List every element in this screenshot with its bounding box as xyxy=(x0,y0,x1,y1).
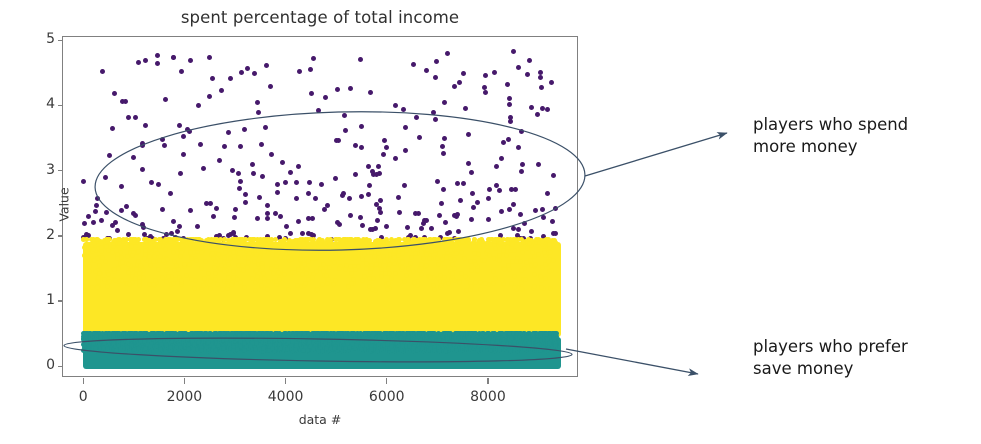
scatter-point xyxy=(533,262,538,267)
scatter-point xyxy=(405,225,410,230)
scatter-point xyxy=(188,208,193,213)
scatter-point xyxy=(124,204,129,209)
scatter-point xyxy=(284,224,289,229)
scatter-point xyxy=(237,186,242,191)
scatter-point xyxy=(136,249,141,254)
scatter-point xyxy=(491,281,496,286)
scatter-point xyxy=(342,113,347,118)
scatter-point xyxy=(301,348,306,353)
scatter-point xyxy=(400,260,405,265)
scatter-point xyxy=(195,224,200,229)
scatter-point xyxy=(553,332,558,337)
scatter-point xyxy=(440,334,445,339)
scatter-point xyxy=(105,239,110,244)
scatter-point xyxy=(230,168,235,173)
scatter-point xyxy=(286,340,291,345)
scatter-point xyxy=(237,333,242,338)
scatter-point xyxy=(283,180,288,185)
scatter-point xyxy=(543,276,548,281)
scatter-point xyxy=(456,229,461,234)
scatter-point xyxy=(403,125,408,130)
scatter-point xyxy=(112,91,117,96)
scatter-point xyxy=(534,237,539,242)
scatter-point xyxy=(475,268,480,273)
scatter-point xyxy=(293,347,298,352)
scatter-point xyxy=(171,281,176,286)
scatter-point xyxy=(295,283,300,288)
scatter-point xyxy=(494,164,499,169)
scatter-point xyxy=(327,338,332,343)
scatter-point xyxy=(416,211,421,216)
scatter-point xyxy=(120,99,125,104)
scatter-point xyxy=(413,251,418,256)
scatter-point xyxy=(384,145,389,150)
scatter-point xyxy=(441,187,446,192)
scatter-point xyxy=(437,213,442,218)
scatter-point xyxy=(460,344,465,349)
scatter-point xyxy=(93,209,98,214)
scatter-point xyxy=(497,258,502,263)
y-tick-mark xyxy=(58,300,64,301)
scatter-point xyxy=(316,238,321,243)
scatter-point xyxy=(273,211,278,216)
scatter-point xyxy=(540,239,545,244)
scatter-point xyxy=(469,170,474,175)
scatter-point xyxy=(226,130,231,135)
scatter-point xyxy=(548,250,553,255)
scatter-point xyxy=(265,211,270,216)
scatter-point xyxy=(400,251,405,256)
scatter-point xyxy=(325,203,330,208)
scatter-point xyxy=(316,108,321,113)
scatter-point xyxy=(333,176,338,181)
scatter-point xyxy=(530,250,535,255)
scatter-point xyxy=(277,334,282,339)
scatter-point xyxy=(171,55,176,60)
scatter-point xyxy=(426,331,431,336)
scatter-point xyxy=(210,76,215,81)
scatter-point xyxy=(485,248,490,253)
scatter-point xyxy=(308,67,313,72)
scatter-point xyxy=(275,190,280,195)
scatter-point xyxy=(232,215,237,220)
annotation-arrow-save xyxy=(566,349,698,374)
scatter-point xyxy=(296,164,301,169)
scatter-point xyxy=(457,80,462,85)
scatter-point xyxy=(448,237,453,242)
scatter-point xyxy=(450,271,455,276)
scatter-point xyxy=(113,220,118,225)
scatter-point xyxy=(221,241,226,246)
x-tick-label: 4000 xyxy=(251,390,321,404)
scatter-point xyxy=(259,142,264,147)
scatter-point xyxy=(419,272,424,277)
scatter-point xyxy=(553,231,558,236)
scatter-point xyxy=(527,241,532,246)
scatter-point xyxy=(442,100,447,105)
scatter-point xyxy=(160,207,165,212)
scatter-point xyxy=(140,222,145,227)
scatter-point xyxy=(307,180,312,185)
scatter-point xyxy=(546,259,551,264)
scatter-point xyxy=(222,255,227,260)
scatter-point xyxy=(233,207,238,212)
scatter-point xyxy=(277,342,282,347)
scatter-point xyxy=(336,138,341,143)
scatter-point xyxy=(382,335,387,340)
scatter-point xyxy=(506,137,511,142)
scatter-point xyxy=(294,196,299,201)
scatter-point xyxy=(142,256,147,261)
scatter-point xyxy=(238,179,243,184)
scatter-plot-area xyxy=(63,37,577,376)
scatter-point xyxy=(454,251,459,256)
scatter-point xyxy=(497,188,502,193)
scatter-point xyxy=(160,137,165,142)
scatter-point xyxy=(440,144,445,149)
scatter-point xyxy=(102,277,107,282)
scatter-point xyxy=(362,252,367,257)
scatter-point xyxy=(423,244,428,249)
scatter-point xyxy=(320,332,325,337)
scatter-point xyxy=(392,248,397,253)
scatter-point xyxy=(81,237,86,242)
scatter-point xyxy=(370,227,375,232)
scatter-point xyxy=(414,115,419,120)
scatter-point xyxy=(91,220,96,225)
scatter-point xyxy=(86,214,91,219)
scatter-point xyxy=(313,196,318,201)
scatter-point xyxy=(119,208,124,213)
scatter-point xyxy=(115,228,120,233)
scatter-point xyxy=(136,259,141,264)
scatter-point xyxy=(424,68,429,73)
scatter-point xyxy=(499,156,504,161)
scatter-point xyxy=(265,203,270,208)
scatter-point xyxy=(239,70,244,75)
scatter-point xyxy=(196,103,201,108)
scatter-point xyxy=(487,187,492,192)
scatter-point xyxy=(214,237,219,242)
y-tick-label: 3 xyxy=(29,163,55,177)
scatter-point xyxy=(393,271,398,276)
scatter-point xyxy=(525,72,530,77)
scatter-point xyxy=(206,340,211,345)
scatter-point xyxy=(501,248,506,253)
scatter-point xyxy=(188,332,193,337)
scatter-point xyxy=(318,249,323,254)
scatter-point xyxy=(424,263,429,268)
x-tick-mark xyxy=(386,378,387,384)
scatter-point xyxy=(315,287,320,292)
scatter-point xyxy=(518,341,523,346)
scatter-point xyxy=(392,255,397,260)
scatter-point xyxy=(95,285,100,290)
scatter-point xyxy=(461,181,466,186)
scatter-point xyxy=(442,136,447,141)
x-tick-mark xyxy=(184,378,185,384)
scatter-point xyxy=(211,214,216,219)
scatter-point xyxy=(446,281,451,286)
scatter-point xyxy=(102,341,107,346)
scatter-point xyxy=(242,127,247,132)
scatter-point xyxy=(553,206,558,211)
scatter-point xyxy=(402,237,407,242)
scatter-point xyxy=(99,249,104,254)
scatter-point xyxy=(311,347,316,352)
scatter-point xyxy=(187,129,192,134)
scatter-point xyxy=(391,333,396,338)
scatter-point xyxy=(436,237,441,242)
scatter-point xyxy=(179,69,184,74)
scatter-point xyxy=(305,348,310,353)
scatter-point xyxy=(188,58,193,63)
y-tick-label: 4 xyxy=(29,97,55,111)
scatter-point xyxy=(329,331,334,336)
scatter-point xyxy=(343,267,348,272)
scatter-point xyxy=(448,256,453,261)
scatter-point xyxy=(188,243,193,248)
scatter-point xyxy=(156,182,161,187)
annotation-arrow-spend xyxy=(585,133,727,176)
scatter-point xyxy=(450,347,455,352)
scatter-point xyxy=(137,271,142,276)
scatter-point xyxy=(197,237,202,242)
scatter-point xyxy=(243,192,248,197)
scatter-point xyxy=(535,112,540,117)
scatter-point xyxy=(507,207,512,212)
scatter-point xyxy=(281,241,286,246)
scatter-point xyxy=(519,129,524,134)
scatter-point xyxy=(207,94,212,99)
scatter-point xyxy=(443,349,448,354)
scatter-point xyxy=(344,263,349,268)
scatter-point xyxy=(396,195,401,200)
scatter-point xyxy=(347,196,352,201)
scatter-point xyxy=(419,262,424,267)
scatter-point xyxy=(300,231,305,236)
scatter-point xyxy=(337,346,342,351)
scatter-point xyxy=(115,252,120,257)
scatter-point xyxy=(311,56,316,61)
scatter-point xyxy=(485,343,490,348)
scatter-point xyxy=(405,340,410,345)
scatter-point xyxy=(136,60,141,65)
scatter-point xyxy=(309,91,314,96)
scatter-point xyxy=(171,219,176,224)
scatter-point xyxy=(442,265,447,270)
scatter-point xyxy=(511,226,516,231)
scatter-point xyxy=(371,276,376,281)
scatter-point xyxy=(341,191,346,196)
scatter-point xyxy=(340,254,345,259)
scatter-point xyxy=(519,169,524,174)
scatter-point xyxy=(377,206,382,211)
scatter-point xyxy=(278,214,283,219)
scatter-point xyxy=(155,251,160,256)
scatter-point xyxy=(516,65,521,70)
scatter-figure: spent percentage of total income 012345 … xyxy=(0,0,981,444)
scatter-point xyxy=(393,156,398,161)
scatter-point xyxy=(470,191,475,196)
scatter-point xyxy=(486,196,491,201)
scatter-point xyxy=(163,97,168,102)
y-tick-label: 0 xyxy=(29,358,55,372)
scatter-point xyxy=(378,198,383,203)
scatter-point xyxy=(172,237,177,242)
scatter-point xyxy=(168,191,173,196)
scatter-point xyxy=(83,288,88,293)
scatter-point xyxy=(177,224,182,229)
scatter-point xyxy=(533,208,538,213)
annotation-high-line2: more money xyxy=(753,137,858,156)
scatter-point xyxy=(208,201,213,206)
scatter-point xyxy=(228,256,233,261)
scatter-point xyxy=(296,219,301,224)
x-tick-label: 8000 xyxy=(453,390,523,404)
annotation-label-savers: players who prefersave money xyxy=(753,336,908,380)
scatter-point xyxy=(509,281,514,286)
scatter-point xyxy=(505,82,510,87)
scatter-point xyxy=(256,110,261,115)
scatter-point xyxy=(133,276,138,281)
scatter-point xyxy=(251,237,256,242)
scatter-point xyxy=(255,216,260,221)
scatter-point xyxy=(477,238,482,243)
y-tick-mark xyxy=(58,366,64,367)
scatter-point xyxy=(136,346,141,351)
annotation-save-line2: save money xyxy=(753,359,853,378)
scatter-point xyxy=(381,254,386,259)
scatter-point xyxy=(238,144,243,149)
scatter-point xyxy=(261,237,266,242)
scatter-point xyxy=(208,286,213,291)
scatter-point xyxy=(227,342,232,347)
scatter-point xyxy=(199,250,204,255)
scatter-point xyxy=(243,200,248,205)
scatter-point xyxy=(312,245,317,250)
scatter-point xyxy=(507,96,512,101)
scatter-point xyxy=(366,164,371,169)
scatter-point xyxy=(359,124,364,129)
plot-axes: 012345 02000400060008000 Value xyxy=(62,36,578,377)
scatter-point xyxy=(179,250,184,255)
scatter-point xyxy=(362,274,367,279)
scatter-point xyxy=(306,191,311,196)
scatter-point xyxy=(155,61,160,66)
y-tick-mark xyxy=(58,40,64,41)
scatter-point xyxy=(143,123,148,128)
scatter-point xyxy=(140,167,145,172)
scatter-point xyxy=(420,346,425,351)
scatter-point xyxy=(511,202,516,207)
scatter-point xyxy=(246,245,251,250)
scatter-point xyxy=(527,58,532,63)
scatter-point xyxy=(483,90,488,95)
scatter-point xyxy=(471,244,476,249)
scatter-point xyxy=(412,237,417,242)
scatter-point xyxy=(95,196,100,201)
scatter-point xyxy=(369,347,374,352)
scatter-point xyxy=(288,170,293,175)
scatter-point xyxy=(513,187,518,192)
scatter-point xyxy=(441,151,446,156)
scatter-point xyxy=(157,258,162,263)
scatter-point xyxy=(158,347,163,352)
scatter-point xyxy=(353,143,358,148)
scatter-point xyxy=(159,342,164,347)
scatter-point xyxy=(403,148,408,153)
scatter-point xyxy=(360,343,365,348)
scatter-point xyxy=(390,348,395,353)
scatter-point xyxy=(522,221,527,226)
scatter-point xyxy=(435,247,440,252)
scatter-point xyxy=(239,237,244,242)
scatter-point xyxy=(428,346,433,351)
scatter-point xyxy=(433,117,438,122)
scatter-point xyxy=(522,347,527,352)
scatter-point xyxy=(401,107,406,112)
scatter-point xyxy=(360,223,365,228)
scatter-point xyxy=(538,75,543,80)
scatter-point xyxy=(287,331,292,336)
scatter-point xyxy=(499,209,504,214)
scatter-point xyxy=(301,241,306,246)
annotation-save-line1: players who prefer xyxy=(753,337,908,356)
scatter-point xyxy=(377,171,382,176)
annotation-high-line1: players who spend xyxy=(753,115,908,134)
scatter-point xyxy=(143,58,148,63)
scatter-point xyxy=(141,242,146,247)
scatter-point xyxy=(99,218,104,223)
scatter-point xyxy=(508,119,513,124)
scatter-point xyxy=(353,255,358,260)
scatter-point xyxy=(545,107,550,112)
scatter-point xyxy=(512,285,517,290)
scatter-point xyxy=(397,237,402,242)
scatter-point xyxy=(297,69,302,74)
scatter-point xyxy=(540,106,545,111)
scatter-point xyxy=(375,218,380,223)
scatter-point xyxy=(433,75,438,80)
scatter-point xyxy=(131,211,136,216)
scatter-point xyxy=(207,55,212,60)
scatter-point xyxy=(502,267,507,272)
scatter-point xyxy=(492,70,497,75)
scatter-point xyxy=(382,138,387,143)
scatter-point xyxy=(454,243,459,248)
scatter-point xyxy=(103,175,108,180)
scatter-point xyxy=(542,250,547,255)
y-axis-label: Value xyxy=(57,160,72,250)
scatter-point xyxy=(231,275,236,280)
scatter-point xyxy=(146,238,151,243)
scatter-point xyxy=(252,259,257,264)
scatter-point xyxy=(319,182,324,187)
scatter-point xyxy=(255,100,260,105)
scatter-point xyxy=(219,263,224,268)
scatter-point xyxy=(475,200,480,205)
scatter-point xyxy=(94,333,99,338)
scatter-point xyxy=(253,336,258,341)
scatter-point xyxy=(529,229,534,234)
scatter-point xyxy=(545,191,550,196)
scatter-point xyxy=(507,102,512,107)
scatter-point xyxy=(519,286,524,291)
scatter-point xyxy=(220,287,225,292)
scatter-point xyxy=(198,333,203,338)
scatter-point xyxy=(199,348,204,353)
